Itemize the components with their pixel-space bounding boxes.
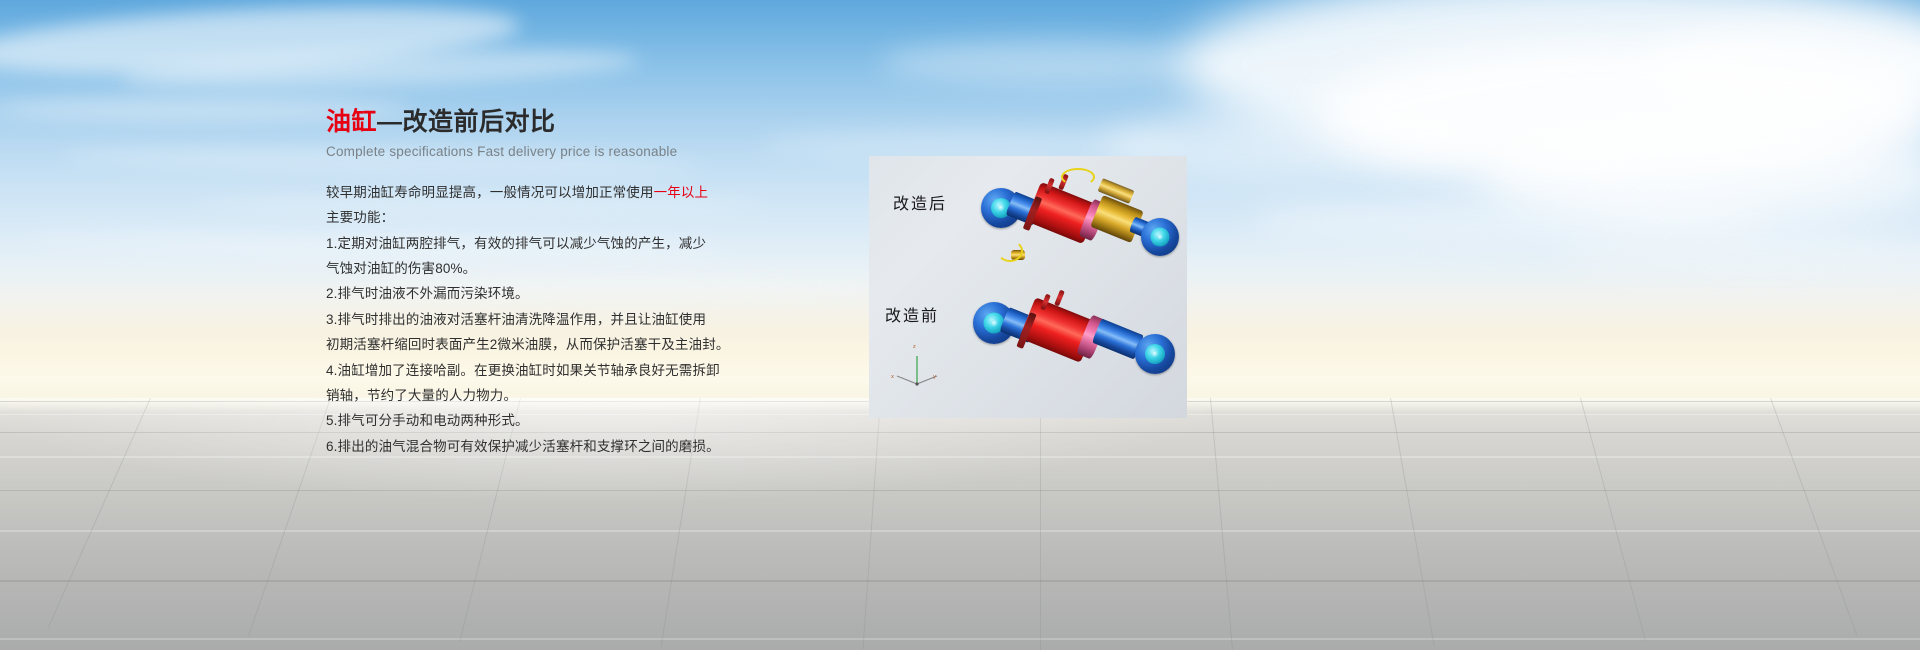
feature-line: 较早期油缸寿命明显提高，一般情况可以增加正常使用一年以上: [326, 180, 746, 205]
feature-line-text: 6.排出的油气混合物可有效保护减少活塞杆和支撑环之间的磨损。: [326, 439, 720, 454]
feature-line-text: 主要功能：: [326, 210, 394, 225]
feature-line: 2.排气时油液不外漏而污染环境。: [326, 281, 746, 306]
hero-banner: 油缸—改造前后对比 Complete specifications Fast d…: [0, 0, 1920, 650]
feature-line-tail: 一年以上: [654, 185, 709, 200]
cylinder-after-assembly: [981, 168, 1181, 280]
feature-line: 3.排气时排出的油液对活塞杆油清洗降温作用，并且让油缸使用: [326, 307, 746, 332]
feature-line: 6.排出的油气混合物可有效保护减少活塞杆和支撑环之间的磨损。: [326, 434, 746, 459]
yellow-hose-after: [1061, 168, 1095, 186]
coordinate-axis-gizmo: [891, 344, 943, 388]
cloud-wisp: [1560, 236, 1920, 272]
feature-line-text: 5.排气可分手动和电动两种形式。: [326, 413, 529, 428]
cloud-wisp: [880, 40, 1240, 84]
label-after-modification: 改造后: [893, 190, 947, 214]
feature-line-text: 4.油缸增加了连接哈副。在更换油缸时如果关节轴承良好无需拆卸: [326, 363, 720, 378]
banner-text-column: 油缸—改造前后对比 Complete specifications Fast d…: [326, 108, 746, 459]
comparison-image-panel: 改造后 改造前: [869, 156, 1187, 418]
feature-line-text: 较早期油缸寿命明显提高，一般情况可以增加正常使用: [326, 185, 654, 200]
feature-line-text: 初期活塞杆缩回时表面产生2微米油膜，从而保护活塞干及主油封。: [326, 337, 730, 352]
feature-line-text: 气蚀对油缸的伤害80%。: [326, 261, 476, 276]
yellow-drain-hose-after: [997, 240, 1023, 262]
page-subtitle: Complete specifications Fast delivery pr…: [326, 144, 746, 159]
port-pin2-before: [1054, 290, 1065, 307]
front-eye-before: [1135, 334, 1175, 374]
cylinder-before-assembly: [973, 284, 1183, 398]
ground-plaza: [0, 398, 1920, 650]
feature-line: 1.定期对油缸两腔排气，有效的排气可以减少气蚀的产生，减少: [326, 231, 746, 256]
page-title: 油缸—改造前后对比: [326, 108, 746, 137]
label-before-modification: 改造前: [885, 302, 939, 326]
feature-line-text: 1.定期对油缸两腔排气，有效的排气可以减少气蚀的产生，减少: [326, 236, 706, 251]
feature-line-text: 3.排气时排出的油液对活塞杆油清洗降温作用，并且让油缸使用: [326, 312, 706, 327]
axis-label-x: x: [891, 374, 894, 380]
feature-line: 4.油缸增加了连接哈副。在更换油缸时如果关节轴承良好无需拆卸: [326, 358, 746, 383]
feature-line: 销轴，节约了大量的人力物力。: [326, 383, 746, 408]
feature-line: 5.排气可分手动和电动两种形式。: [326, 408, 746, 433]
feature-line: 气蚀对油缸的伤害80%。: [326, 256, 746, 281]
axis-label-z: z: [913, 344, 916, 350]
front-eye-after: [1141, 218, 1179, 256]
title-highlight: 油缸: [326, 108, 377, 136]
feature-line-text: 2.排气时油液不外漏而污染环境。: [326, 286, 529, 301]
feature-line: 主要功能：: [326, 205, 746, 230]
title-rest: —改造前后对比: [377, 108, 556, 136]
feature-line: 初期活塞杆缩回时表面产生2微米油膜，从而保护活塞干及主油封。: [326, 332, 746, 357]
feature-description: 较早期油缸寿命明显提高，一般情况可以增加正常使用一年以上主要功能：1.定期对油缸…: [326, 180, 746, 459]
feature-line-text: 销轴，节约了大量的人力物力。: [326, 388, 517, 403]
axis-label-y: y: [933, 374, 936, 380]
